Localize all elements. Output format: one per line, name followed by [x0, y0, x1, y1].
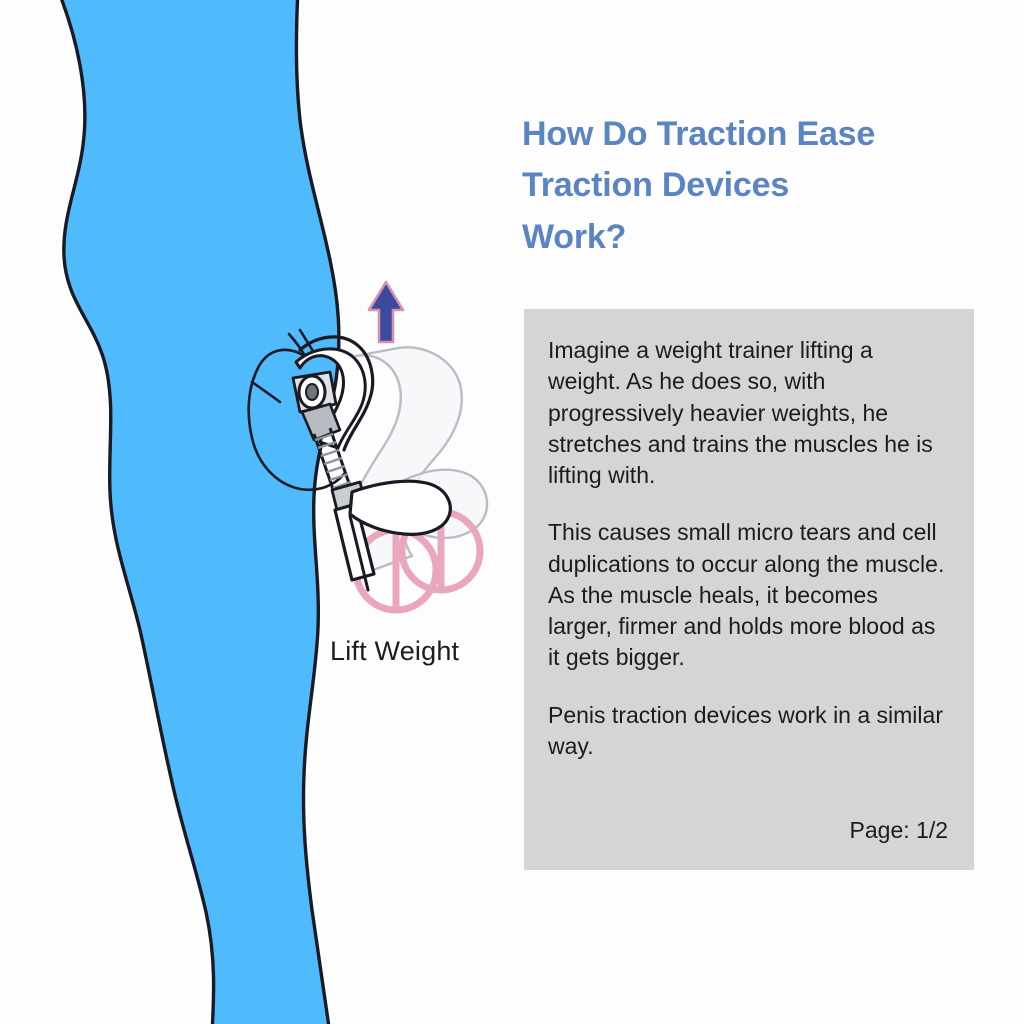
- page-title: How Do Traction Ease Traction Devices Wo…: [522, 109, 1002, 264]
- body-paragraph-3: Penis traction devices work in a similar…: [548, 700, 948, 763]
- body-silhouette-group: [58, 0, 339, 1024]
- infographic-page: Lift Weight How Do Traction Ease Tractio…: [0, 0, 1024, 1024]
- anatomy-illustration: Lift Weight: [0, 0, 520, 1024]
- body-paragraph-1: Imagine a weight trainer lifting a weigh…: [548, 335, 948, 491]
- page-title-line-3: Work?: [522, 212, 1002, 264]
- page-indicator: Page: 1/2: [850, 817, 948, 844]
- lift-weight-caption: Lift Weight: [330, 636, 459, 667]
- body-paragraph-2: This causes small micro tears and cell d…: [548, 517, 948, 673]
- up-arrow-icon: [369, 282, 403, 342]
- page-title-line-1: How Do Traction Ease: [522, 109, 1002, 161]
- body-text-panel: Imagine a weight trainer lifting a weigh…: [524, 309, 974, 870]
- body-silhouette: [58, 0, 339, 1024]
- page-title-line-2: Traction Devices: [522, 160, 1002, 212]
- content-column: How Do Traction Ease Traction Devices Wo…: [518, 0, 1024, 1024]
